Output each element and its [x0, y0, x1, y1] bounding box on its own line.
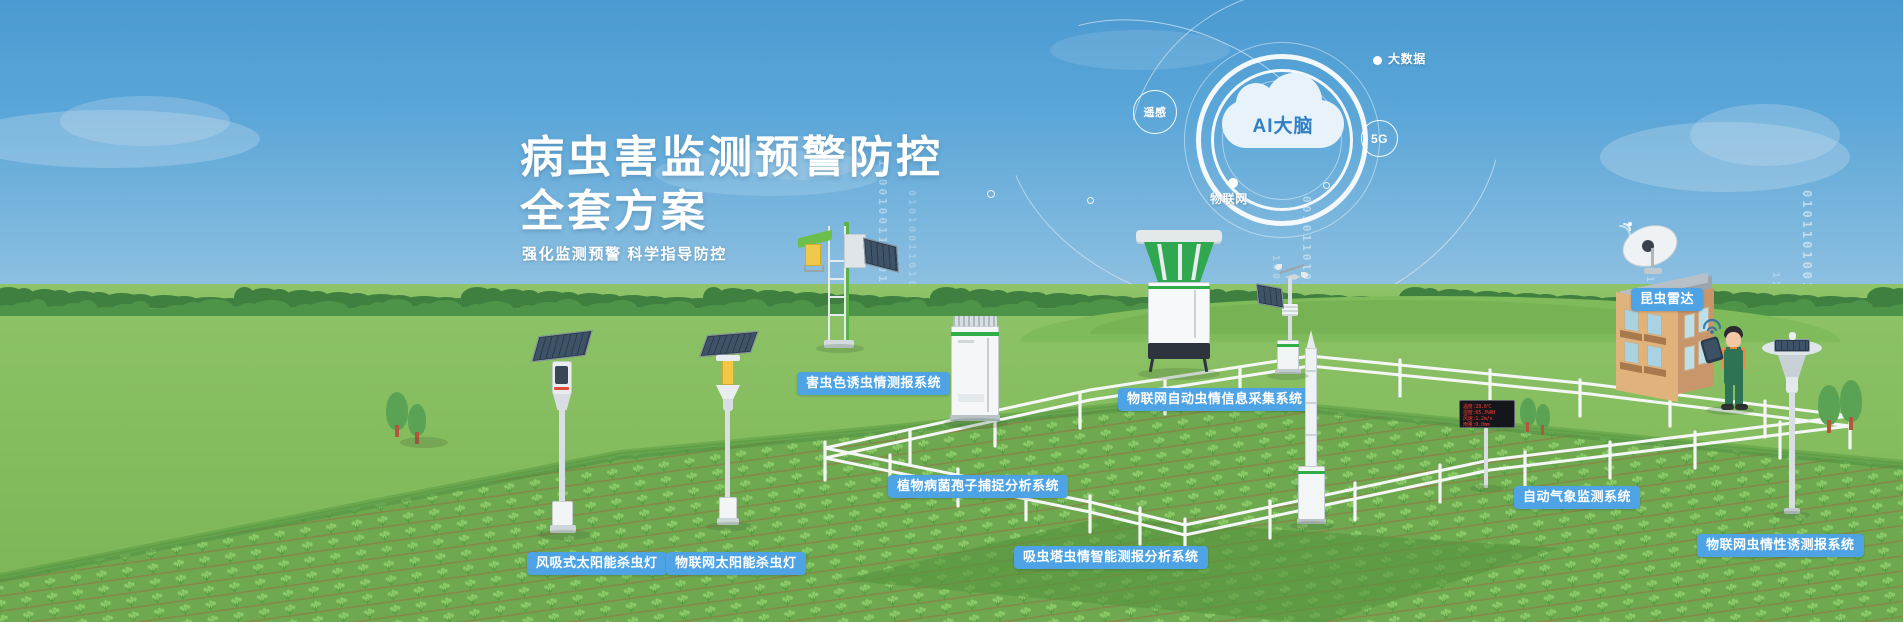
radiation-shield — [1282, 304, 1298, 316]
solar-panel — [699, 331, 759, 357]
worker-leg — [1725, 382, 1733, 406]
cloud-decoration — [60, 96, 230, 146]
tree — [1520, 398, 1536, 434]
tower-cabinet — [1298, 466, 1325, 520]
tube-band — [1305, 434, 1317, 436]
worker-leg — [1735, 382, 1743, 406]
ladder-rung — [829, 260, 845, 262]
device-wind-suction-solar-insect-lamp[interactable] — [530, 325, 600, 555]
yellow-lure-trap — [805, 244, 821, 266]
label-wind-suction-solar-insect-lamp[interactable]: 风吸式太阳能杀虫灯 — [527, 552, 667, 575]
building-window — [1647, 313, 1662, 337]
node-big-data-label: 大数据 — [1388, 50, 1426, 67]
device-shadow — [1290, 521, 1334, 530]
building-window — [1684, 313, 1695, 340]
tube-band — [1305, 402, 1317, 404]
wifi-signal-icon — [1700, 314, 1724, 334]
collection-cup — [553, 394, 571, 410]
device-shadow — [944, 418, 1008, 429]
device-auto-weather-monitoring-system[interactable] — [1255, 262, 1325, 392]
building-window — [1647, 345, 1662, 369]
body-green-stripe — [1148, 286, 1210, 289]
cabinet-green-band — [1298, 471, 1325, 474]
wifi-signal-icon — [1608, 214, 1638, 240]
banner-root: 0100010011010110101 0101001101011010010 … — [0, 0, 1903, 622]
overall-strap — [1737, 347, 1741, 355]
device-spore-capture-analysis-system[interactable] — [948, 316, 1008, 436]
page-subtitle: 强化监测预警 科学指导防控 — [522, 243, 727, 264]
device-shadow — [1774, 511, 1810, 519]
building-window — [1624, 341, 1639, 365]
device-iot-auto-pest-info-collection-system[interactable] — [1130, 228, 1230, 378]
device-iot-pheromone-forecast-system[interactable] — [1760, 330, 1830, 540]
satellite-dish-assembly[interactable] — [1618, 222, 1690, 282]
label-suction-tower-forecast-system[interactable]: 吸虫塔虫情智能测报分析系统 — [1014, 546, 1208, 569]
lamp-cage-slot — [1178, 244, 1182, 280]
body-panel-seam — [1194, 290, 1196, 338]
anemometer-cup — [1301, 272, 1308, 278]
logger-green-band — [1277, 344, 1299, 347]
overall-strap — [1726, 347, 1730, 355]
node-iot-dot[interactable] — [1228, 178, 1238, 188]
cabinet-brand-mark — [958, 340, 974, 343]
label-auto-weather-monitoring-system[interactable]: 自动气象监测系统 — [1514, 486, 1640, 509]
label-insect-radar[interactable]: 昆虫雷达 — [1631, 288, 1703, 311]
disc-solar-cells — [1774, 339, 1810, 352]
support-pole — [1789, 392, 1795, 510]
cabinet-green-band — [951, 332, 999, 336]
node-5g[interactable]: 5G — [1361, 120, 1398, 157]
anemometer-cup — [1275, 264, 1282, 270]
device-iot-solar-insect-lamp[interactable] — [700, 325, 770, 555]
controller-box — [552, 501, 573, 526]
controller-box — [719, 497, 737, 519]
tree — [1840, 380, 1862, 432]
node-remote-sensing-label: 遥感 — [1144, 104, 1167, 120]
spore-intake-vent — [953, 316, 997, 326]
node-remote-sensing[interactable]: 遥感 — [1133, 90, 1177, 134]
ladder-rung — [829, 314, 845, 316]
device-shadow — [706, 522, 754, 531]
label-iot-solar-insect-lamp[interactable]: 物联网太阳能杀虫灯 — [666, 552, 806, 575]
cabinet-door-seam — [987, 338, 989, 412]
solar-panel — [531, 330, 592, 362]
lamp-window — [555, 366, 568, 384]
rain-cover — [1136, 230, 1222, 242]
tree-shadow — [400, 437, 448, 448]
device-color-lure-pest-forecast-system[interactable] — [800, 220, 910, 350]
field-worker — [1700, 320, 1760, 410]
node-5g-label: 5G — [1371, 132, 1388, 146]
ai-brain-cluster: AI大脑 遥感 大数据 5G 物联网 — [1080, 20, 1500, 250]
ai-brain-label: AI大脑 — [1252, 111, 1313, 138]
tree — [386, 392, 408, 440]
device-shadow — [538, 530, 592, 540]
ai-brain-badge: AI大脑 — [1222, 100, 1344, 148]
cabinet-spec-plate — [958, 394, 984, 402]
cloud-decoration — [1690, 104, 1840, 166]
trap-stand — [804, 265, 824, 272]
tree — [1536, 404, 1550, 436]
led-sign-pole — [1484, 428, 1488, 488]
led-sign-shadow — [1470, 485, 1504, 492]
solar-panel — [863, 237, 899, 272]
node-big-data-dot[interactable] — [1373, 56, 1382, 65]
collection-body — [1148, 282, 1210, 344]
sensor-knob — [1789, 332, 1796, 340]
worker-shadow — [1706, 406, 1754, 415]
ladder-rung — [829, 278, 845, 280]
collection-bottle — [1786, 377, 1798, 393]
dish-mount — [1644, 268, 1662, 274]
building-window — [1624, 309, 1639, 333]
led-display-sign[interactable]: 温度:28.6℃ 湿度:65.3%RH 风速:1.2m/s 雨量:0.0mm — [1459, 400, 1515, 428]
device-shadow — [1138, 368, 1220, 380]
ladder-rung — [829, 296, 845, 298]
pheromone-cone — [1778, 355, 1806, 379]
node-iot-label: 物联网 — [1210, 190, 1248, 207]
label-color-lure-pest-forecast-system[interactable]: 害虫色诱虫情测报系统 — [797, 372, 950, 395]
dish-strut — [1651, 248, 1654, 270]
building-window — [1684, 345, 1695, 372]
lamp-indicator — [554, 387, 569, 390]
orbit-endpoint-dot — [987, 190, 995, 198]
device-shadow — [1267, 372, 1309, 380]
orbit-endpoint-dot — [1087, 197, 1094, 204]
orbit-endpoint-dot — [1323, 182, 1330, 189]
worker-head — [1726, 332, 1741, 348]
collection-base — [1148, 343, 1210, 359]
solar-panel — [1256, 283, 1284, 308]
lamp-hood — [716, 355, 740, 361]
device-shadow — [816, 344, 864, 353]
lamp-tube — [722, 359, 734, 385]
label-spore-capture-analysis-system[interactable]: 植物病菌孢子捕捉分析系统 — [888, 475, 1068, 498]
headline-line-1: 病虫害监测预警防控 — [520, 131, 943, 185]
label-iot-pheromone-forecast-system[interactable]: 物联网虫情性诱测报系统 — [1697, 534, 1864, 557]
